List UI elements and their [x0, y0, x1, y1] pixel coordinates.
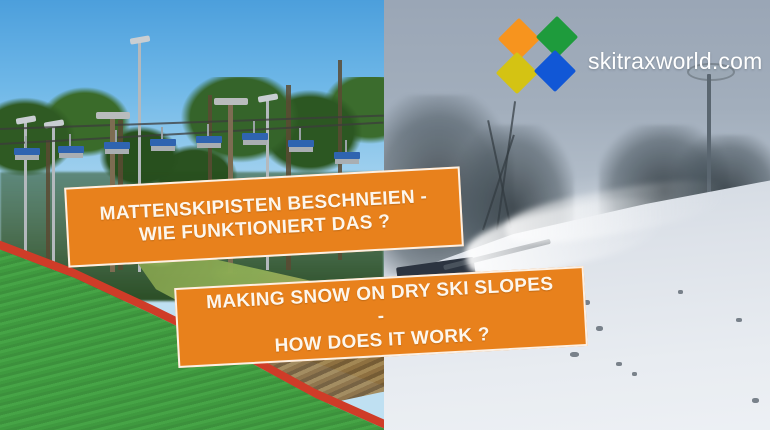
snow-debris	[736, 318, 742, 322]
floodlight-mast	[52, 126, 55, 272]
snow-debris	[752, 398, 759, 403]
snow-debris	[632, 372, 637, 376]
banner-german-text: MATTENSKIPISTEN BESCHNEIEN - WIE FUNKTIO…	[71, 183, 457, 250]
chairlift-chair	[58, 146, 84, 162]
chairlift-chair	[104, 142, 130, 158]
snow-debris	[678, 290, 683, 294]
snow-debris	[596, 326, 603, 331]
screenshot-root: skitraxworld.com MATTENSKIPISTEN BESCHNE…	[0, 0, 770, 430]
chairlift-chair	[150, 139, 176, 155]
chairlift-chair	[242, 133, 268, 149]
site-logo[interactable]: skitraxworld.com	[500, 20, 760, 86]
chairlift-chair	[288, 140, 314, 156]
tree-trunk	[46, 140, 50, 270]
chairlift-chair	[334, 152, 360, 168]
snow-debris	[570, 352, 579, 357]
chairlift-chair	[196, 136, 222, 152]
snow-debris	[616, 362, 622, 366]
site-name-text: skitraxworld.com	[588, 48, 762, 75]
diamond-blue-icon	[534, 50, 576, 92]
banner-english-text: MAKING SNOW ON DRY SKI SLOPES - HOW DOES…	[176, 271, 585, 362]
diamond-logo-mark	[500, 20, 576, 86]
chairlift-chair	[14, 148, 40, 164]
